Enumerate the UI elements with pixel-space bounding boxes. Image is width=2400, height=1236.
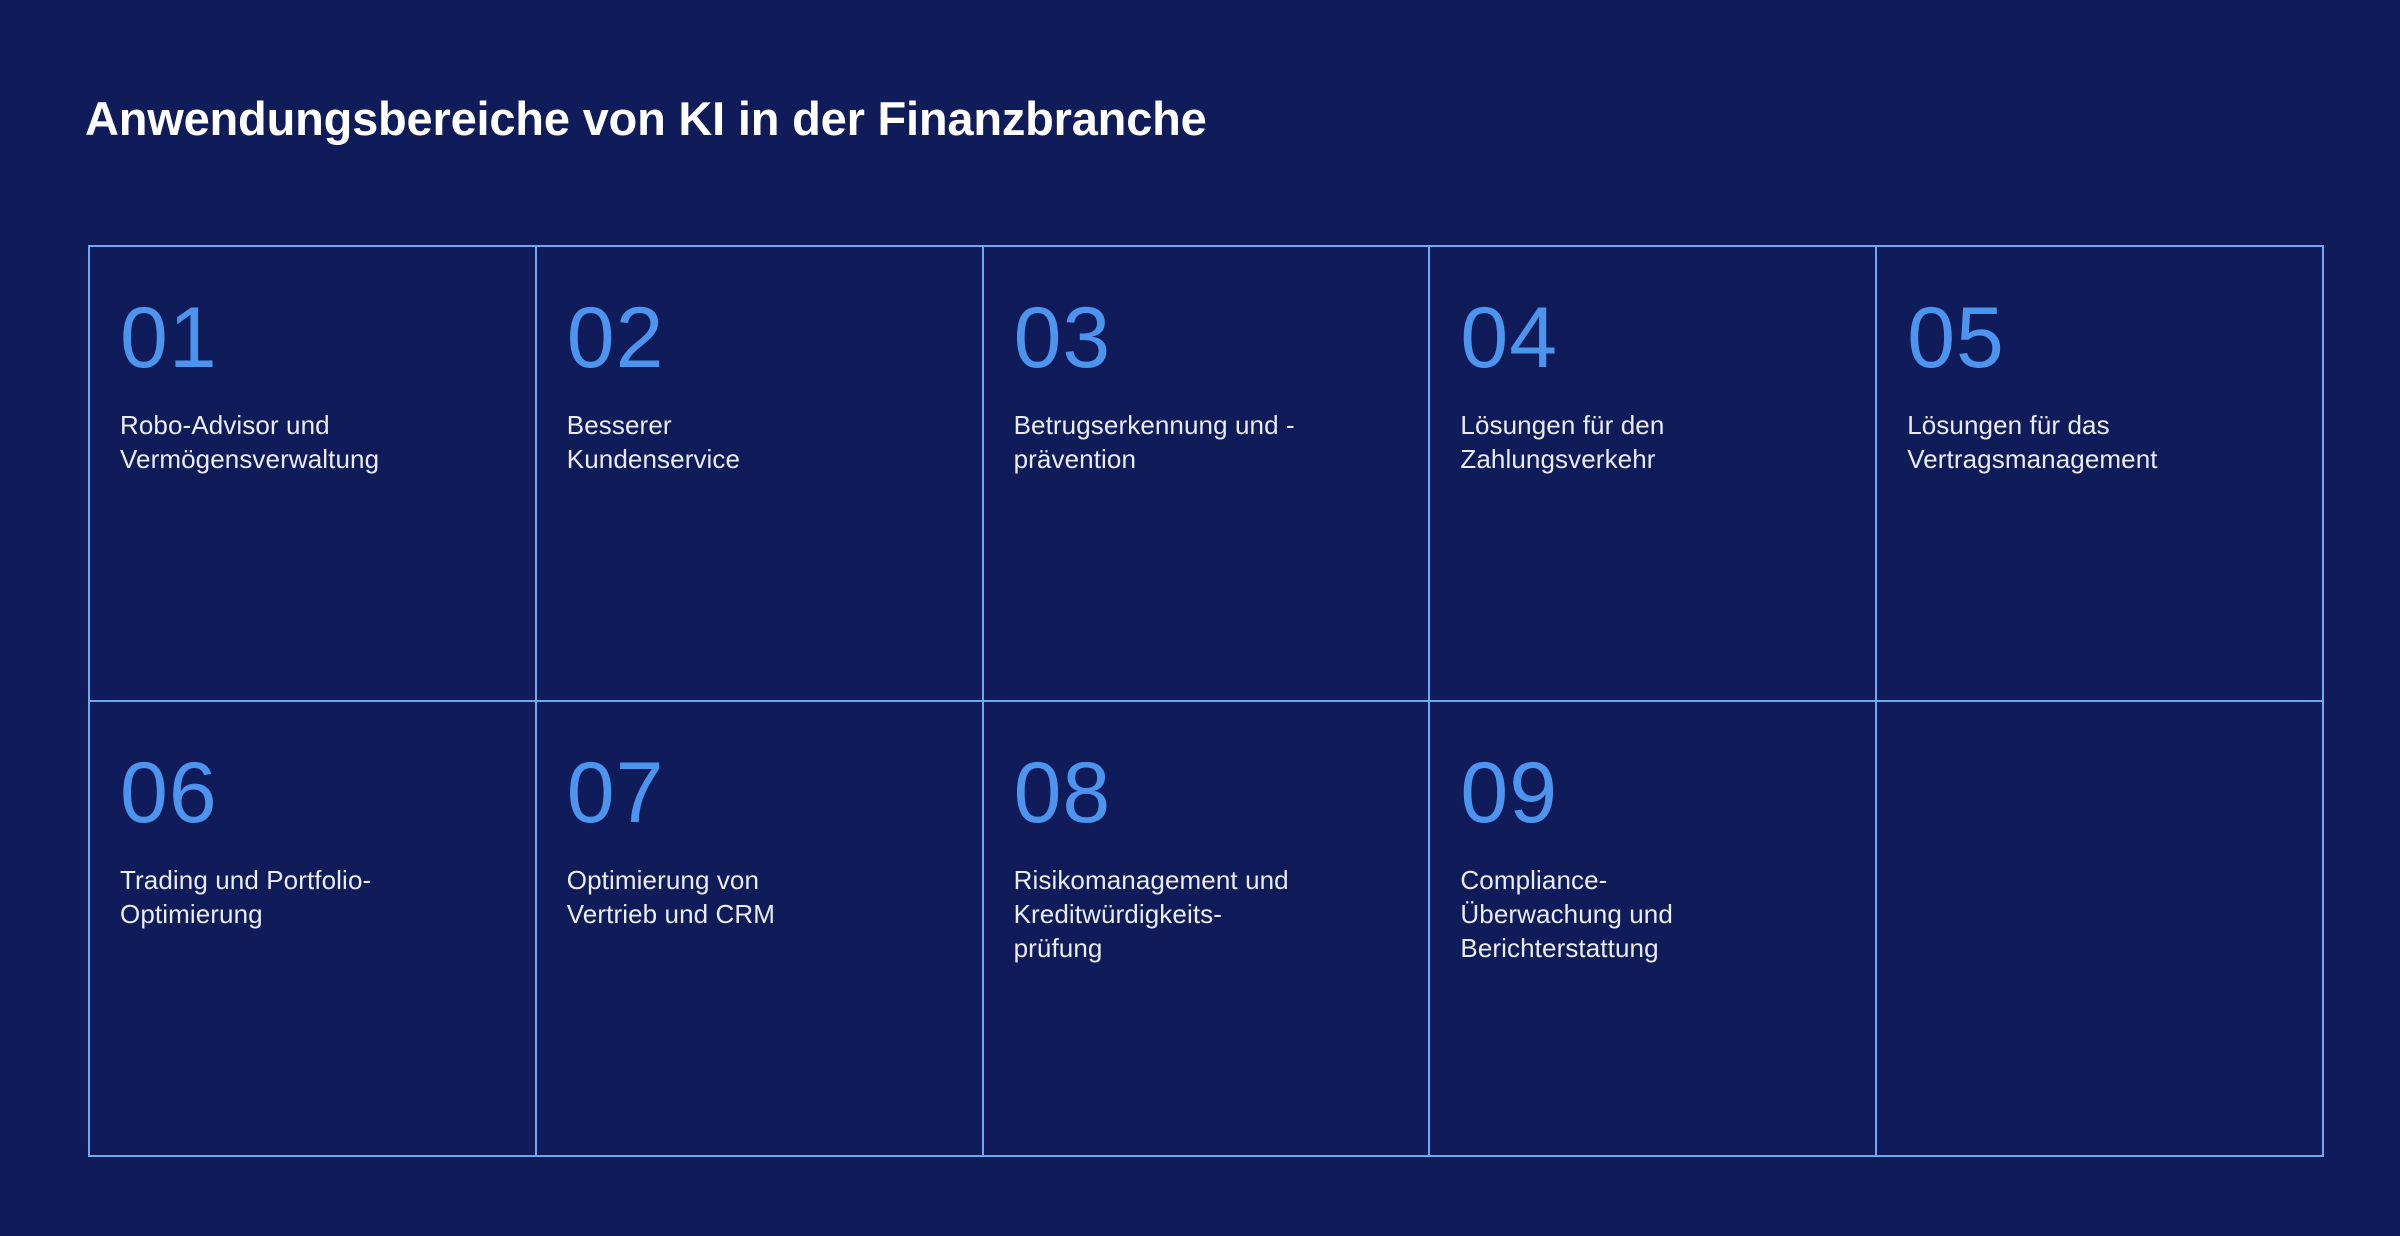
- grid-cell-09[interactable]: 09 Compliance- Überwachung und Berichter…: [1430, 702, 1877, 1157]
- cell-number: 04: [1460, 295, 1839, 381]
- cell-number: 05: [1907, 295, 2286, 381]
- cell-number: 09: [1460, 750, 1839, 836]
- cell-number: 08: [1014, 750, 1393, 836]
- cell-label: Optimierung von Vertrieb und CRM: [567, 863, 946, 931]
- cell-label: Lösungen für das Vertragsmanagement: [1907, 408, 2286, 476]
- cell-label: Lösungen für den Zahlungsverkehr: [1460, 408, 1839, 476]
- grid-cell-04[interactable]: 04 Lösungen für den Zahlungsverkehr: [1430, 247, 1877, 702]
- cell-number: 02: [567, 295, 946, 381]
- cell-label: Compliance- Überwachung und Berichtersta…: [1460, 863, 1839, 965]
- grid-cell-01[interactable]: 01 Robo-Advisor und Vermögensverwaltung: [90, 247, 537, 702]
- cell-number: 01: [120, 295, 499, 381]
- grid-cell-02[interactable]: 02 Besserer Kundenservice: [537, 247, 984, 702]
- cell-label: Trading und Portfolio- Optimierung: [120, 863, 499, 931]
- application-areas-grid: 01 Robo-Advisor und Vermögensverwaltung …: [88, 245, 2324, 1157]
- cell-number: 06: [120, 750, 499, 836]
- cell-label: Robo-Advisor und Vermögensverwaltung: [120, 408, 499, 476]
- slide-canvas: Anwendungsbereiche von KI in der Finanzb…: [0, 0, 2400, 1236]
- grid-cell-05[interactable]: 05 Lösungen für das Vertragsmanagement: [1877, 247, 2324, 702]
- cell-number: 03: [1014, 295, 1393, 381]
- cell-number: 07: [567, 750, 946, 836]
- grid-cell-06[interactable]: 06 Trading und Portfolio- Optimierung: [90, 702, 537, 1157]
- page-title: Anwendungsbereiche von KI in der Finanzb…: [85, 92, 1207, 146]
- cell-label: Betrugserkennung und - prävention: [1014, 408, 1393, 476]
- cell-label: Risikomanagement und Kreditwürdigkeits- …: [1014, 863, 1393, 965]
- grid-cell-03[interactable]: 03 Betrugserkennung und - prävention: [984, 247, 1431, 702]
- grid-cell-08[interactable]: 08 Risikomanagement und Kreditwürdigkeit…: [984, 702, 1431, 1157]
- cell-label: Besserer Kundenservice: [567, 408, 946, 476]
- grid-cell-empty: [1877, 702, 2324, 1157]
- grid-cell-07[interactable]: 07 Optimierung von Vertrieb und CRM: [537, 702, 984, 1157]
